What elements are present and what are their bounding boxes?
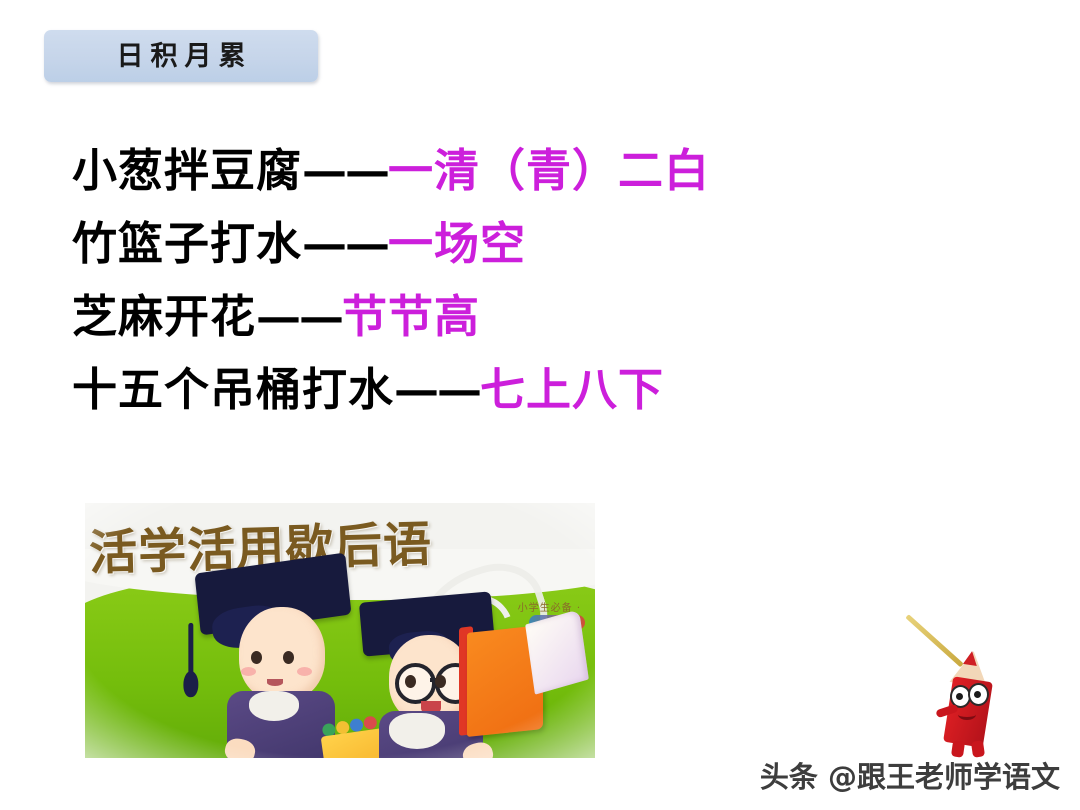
open-book-icon (467, 623, 585, 735)
cap-tassel (188, 623, 193, 675)
saying-row: 竹篮子打水——一场空 (72, 221, 1012, 266)
saying-answer: 一场空 (388, 217, 526, 270)
saying-dash: —— (302, 217, 388, 270)
saying-riddle: 小葱拌豆腐 (72, 144, 302, 197)
child-blush-left (241, 667, 256, 676)
book-cover-image: 活学活用歇后语 小学生必备 · (85, 503, 595, 758)
child-eye-left (405, 675, 416, 688)
sayings-list: 小葱拌豆腐——一清（青）二白 竹篮子打水——一场空 芝麻开花——节节高 十五个吊… (72, 148, 1012, 440)
child-blush-right (297, 667, 312, 676)
pointer-stick-icon (905, 614, 963, 667)
saying-answer: 一清（青）二白 (388, 144, 710, 197)
saying-riddle: 竹篮子打水 (72, 217, 302, 270)
saying-dash: —— (302, 144, 388, 197)
saying-row: 十五个吊桶打水——七上八下 (72, 367, 1012, 412)
book-pages (525, 609, 589, 694)
pencil-lead (963, 650, 979, 666)
child-collar (389, 713, 445, 749)
section-title-label: 日积月累 (110, 43, 253, 70)
section-title-badge: 日积月累 (44, 30, 318, 82)
saying-row: 芝麻开花——节节高 (72, 294, 1012, 339)
saying-dash: —— (256, 290, 342, 343)
mascot-eye-right (968, 683, 989, 706)
child-eye-right (435, 675, 446, 688)
watermark: 头条 @跟王老师学语文 (748, 652, 1068, 802)
saying-dash: —— (394, 363, 480, 416)
saying-answer: 七上八下 (480, 363, 664, 416)
watermark-text: 头条 @跟王老师学语文 (760, 754, 1060, 796)
child-mouth (267, 679, 283, 686)
slide-canvas: 日积月累 小葱拌豆腐——一清（青）二白 竹篮子打水——一场空 芝麻开花——节节高… (0, 0, 1080, 810)
saying-riddle: 芝麻开花 (72, 290, 256, 343)
child-eye-left (251, 651, 262, 664)
child-collar (249, 691, 299, 721)
mascot-mouth (958, 709, 976, 720)
saying-row: 小葱拌豆腐——一清（青）二白 (72, 148, 1012, 193)
pencil-mascot-icon (900, 653, 1010, 758)
child-eye-right (283, 651, 294, 664)
illustration-child-left (205, 563, 375, 758)
saying-answer: 节节高 (342, 290, 480, 343)
saying-riddle: 十五个吊桶打水 (72, 363, 394, 416)
